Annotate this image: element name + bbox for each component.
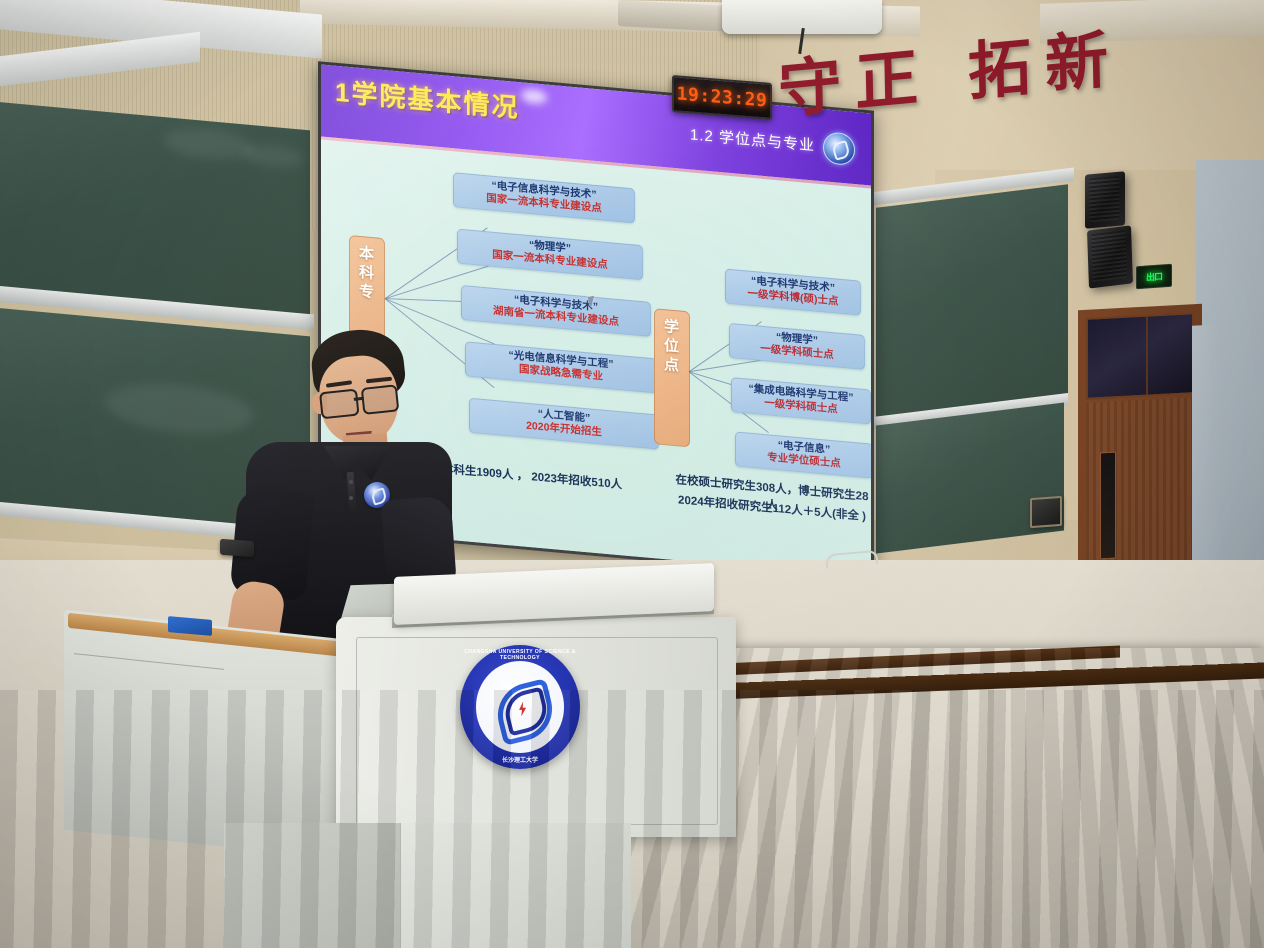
projector-remote[interactable] (220, 539, 254, 557)
connector-line (689, 358, 771, 372)
degree-node[interactable]: “电子科学与技术” 一级学科博(硕)士点 (725, 269, 861, 316)
classroom-scene: 1学院基本情况 1.2 学位点与专业 本科专 “电子信息科学与技术” 国家一流本… (0, 0, 1264, 948)
digital-wall-clock: 19:23:29 ·· ·· ·· (672, 75, 772, 120)
degree-category-label: 学位点 (654, 308, 690, 447)
polo-button (349, 480, 353, 484)
chalkboard-left-upper (0, 102, 310, 321)
exit-sign-text: 出口 (1146, 269, 1162, 283)
chalkboard-right-upper (876, 184, 1068, 424)
undergrad-node[interactable]: “电子信息科学与技术” 国家一流本科专业建设点 (453, 172, 635, 223)
speaker-grille (1091, 230, 1127, 282)
wall-control-panel[interactable] (1030, 496, 1062, 528)
undergrad-node[interactable]: “物理学” 国家一流本科专业建设点 (457, 229, 643, 280)
door-vision-panel (1100, 452, 1116, 560)
lens-right (361, 384, 400, 415)
chalkboard-right-lower (876, 402, 1064, 553)
wall-speaker-upper (1085, 171, 1125, 228)
lens-left (319, 388, 360, 419)
degree-node[interactable]: “电子信息” 专业学位硕士点 (735, 431, 871, 478)
polo-button (349, 496, 353, 500)
undergrad-node[interactable]: “人工智能” 2020年开始招生 (469, 398, 659, 450)
clock-sub-label: ·· ·· ·· (679, 105, 702, 112)
door-transom-window (1086, 312, 1194, 400)
emblem-top-text: CHANGSHA UNIVERSITY OF SCIENCE & TECHNOL… (460, 649, 580, 661)
speaker-grille (1089, 176, 1119, 223)
emergency-exit-sign-icon: 出口 (1136, 264, 1172, 290)
degree-node[interactable]: “物理学” 一级学科硕士点 (729, 323, 865, 370)
undergrad-node[interactable]: “光电信息科学与工程” 国家战略急需专业 (465, 341, 657, 393)
wood-floor (0, 690, 1264, 948)
degree-node[interactable]: “集成电路科学与工程” 一级学科硕士点 (731, 377, 871, 424)
wall-speaker-lower (1087, 225, 1133, 288)
undergrad-node[interactable]: “电子科学与技术” 湖南省一流本科专业建设点 (461, 285, 651, 337)
